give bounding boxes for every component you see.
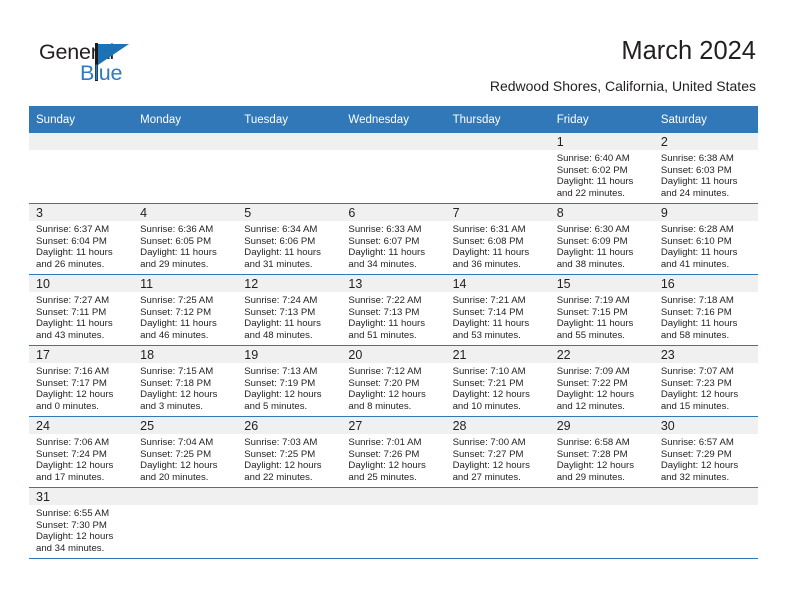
calendar-week-row: 3Sunrise: 6:37 AMSunset: 6:04 PMDaylight… — [29, 204, 758, 275]
day-cell-inner: 30Sunrise: 6:57 AMSunset: 7:29 PMDayligh… — [654, 417, 758, 487]
day-number: 27 — [341, 417, 445, 434]
calendar-empty-cell — [133, 133, 237, 204]
sunrise-time: Sunrise: 7:21 AM — [453, 295, 546, 307]
daylight-duration-line2: and 29 minutes. — [557, 472, 650, 484]
sunset-time: Sunset: 7:25 PM — [140, 449, 233, 461]
daylight-duration-line2: and 17 minutes. — [36, 472, 129, 484]
day-number — [341, 133, 445, 150]
daylight-duration-line1: Daylight: 11 hours — [348, 247, 441, 259]
daylight-duration-line2: and 31 minutes. — [244, 259, 337, 271]
daylight-duration-line1: Daylight: 11 hours — [140, 318, 233, 330]
calendar-day-cell[interactable]: 19Sunrise: 7:13 AMSunset: 7:19 PMDayligh… — [237, 346, 341, 417]
daylight-duration-line1: Daylight: 12 hours — [244, 389, 337, 401]
day-cell-inner: 28Sunrise: 7:00 AMSunset: 7:27 PMDayligh… — [446, 417, 550, 487]
day-number — [550, 488, 654, 505]
day-sun-details: Sunrise: 6:55 AMSunset: 7:30 PMDaylight:… — [29, 505, 133, 554]
calendar-day-cell[interactable]: 7Sunrise: 6:31 AMSunset: 6:08 PMDaylight… — [446, 204, 550, 275]
day-number: 9 — [654, 204, 758, 221]
day-cell-inner: 7Sunrise: 6:31 AMSunset: 6:08 PMDaylight… — [446, 204, 550, 274]
sunset-time: Sunset: 7:11 PM — [36, 307, 129, 319]
day-number: 29 — [550, 417, 654, 434]
day-sun-details: Sunrise: 6:31 AMSunset: 6:08 PMDaylight:… — [446, 221, 550, 270]
day-number: 25 — [133, 417, 237, 434]
day-sun-details: Sunrise: 7:04 AMSunset: 7:25 PMDaylight:… — [133, 434, 237, 483]
day-cell-inner — [654, 488, 758, 558]
day-cell-inner — [29, 133, 133, 203]
daylight-duration-line1: Daylight: 11 hours — [661, 176, 754, 188]
daylight-duration-line1: Daylight: 11 hours — [453, 247, 546, 259]
calendar-day-cell[interactable]: 18Sunrise: 7:15 AMSunset: 7:18 PMDayligh… — [133, 346, 237, 417]
day-number: 17 — [29, 346, 133, 363]
sunrise-time: Sunrise: 7:04 AM — [140, 437, 233, 449]
day-number — [341, 488, 445, 505]
day-cell-inner: 10Sunrise: 7:27 AMSunset: 7:11 PMDayligh… — [29, 275, 133, 345]
day-sun-details: Sunrise: 7:03 AMSunset: 7:25 PMDaylight:… — [237, 434, 341, 483]
sunrise-time: Sunrise: 6:38 AM — [661, 153, 754, 165]
sunrise-time: Sunrise: 7:10 AM — [453, 366, 546, 378]
sunrise-sunset-calendar-table: Sunday Monday Tuesday Wednesday Thursday… — [29, 106, 758, 559]
day-cell-inner: 22Sunrise: 7:09 AMSunset: 7:22 PMDayligh… — [550, 346, 654, 416]
sunrise-time: Sunrise: 7:06 AM — [36, 437, 129, 449]
weekday-header-saturday: Saturday — [654, 106, 758, 133]
calendar-empty-cell — [446, 133, 550, 204]
day-number: 16 — [654, 275, 758, 292]
calendar-week-row: 31Sunrise: 6:55 AMSunset: 7:30 PMDayligh… — [29, 488, 758, 559]
logo-text-blue: Blue — [80, 61, 122, 85]
day-sun-details: Sunrise: 7:12 AMSunset: 7:20 PMDaylight:… — [341, 363, 445, 412]
calendar-day-cell[interactable]: 21Sunrise: 7:10 AMSunset: 7:21 PMDayligh… — [446, 346, 550, 417]
sunset-time: Sunset: 7:24 PM — [36, 449, 129, 461]
sunset-time: Sunset: 6:10 PM — [661, 236, 754, 248]
day-cell-inner — [446, 133, 550, 203]
day-cell-inner: 14Sunrise: 7:21 AMSunset: 7:14 PMDayligh… — [446, 275, 550, 345]
sunset-time: Sunset: 7:28 PM — [557, 449, 650, 461]
sunset-time: Sunset: 7:26 PM — [348, 449, 441, 461]
calendar-week-row: 24Sunrise: 7:06 AMSunset: 7:24 PMDayligh… — [29, 417, 758, 488]
sunset-time: Sunset: 7:20 PM — [348, 378, 441, 390]
calendar-day-cell[interactable]: 30Sunrise: 6:57 AMSunset: 7:29 PMDayligh… — [654, 417, 758, 488]
day-number: 10 — [29, 275, 133, 292]
weekday-header-wednesday: Wednesday — [341, 106, 445, 133]
day-number — [654, 488, 758, 505]
day-sun-details: Sunrise: 7:24 AMSunset: 7:13 PMDaylight:… — [237, 292, 341, 341]
sunset-time: Sunset: 6:07 PM — [348, 236, 441, 248]
calendar-empty-cell — [446, 488, 550, 559]
calendar-day-cell[interactable]: 12Sunrise: 7:24 AMSunset: 7:13 PMDayligh… — [237, 275, 341, 346]
calendar-empty-cell — [341, 488, 445, 559]
daylight-duration-line2: and 36 minutes. — [453, 259, 546, 271]
daylight-duration-line1: Daylight: 12 hours — [36, 389, 129, 401]
weekday-header-friday: Friday — [550, 106, 654, 133]
daylight-duration-line2: and 12 minutes. — [557, 401, 650, 413]
calendar-empty-cell — [29, 133, 133, 204]
sunset-time: Sunset: 7:15 PM — [557, 307, 650, 319]
calendar-week-row: 10Sunrise: 7:27 AMSunset: 7:11 PMDayligh… — [29, 275, 758, 346]
day-number: 4 — [133, 204, 237, 221]
daylight-duration-line2: and 8 minutes. — [348, 401, 441, 413]
daylight-duration-line1: Daylight: 11 hours — [661, 318, 754, 330]
day-number: 26 — [237, 417, 341, 434]
sunrise-time: Sunrise: 7:07 AM — [661, 366, 754, 378]
calendar-day-cell[interactable]: 25Sunrise: 7:04 AMSunset: 7:25 PMDayligh… — [133, 417, 237, 488]
sunset-time: Sunset: 7:27 PM — [453, 449, 546, 461]
daylight-duration-line1: Daylight: 12 hours — [453, 460, 546, 472]
calendar-header-row: Sunday Monday Tuesday Wednesday Thursday… — [29, 106, 758, 133]
day-sun-details: Sunrise: 6:57 AMSunset: 7:29 PMDaylight:… — [654, 434, 758, 483]
daylight-duration-line2: and 32 minutes. — [661, 472, 754, 484]
daylight-duration-line2: and 38 minutes. — [557, 259, 650, 271]
day-number — [446, 133, 550, 150]
day-sun-details: Sunrise: 7:25 AMSunset: 7:12 PMDaylight:… — [133, 292, 237, 341]
daylight-duration-line2: and 15 minutes. — [661, 401, 754, 413]
daylight-duration-line1: Daylight: 12 hours — [348, 460, 441, 472]
day-sun-details: Sunrise: 7:13 AMSunset: 7:19 PMDaylight:… — [237, 363, 341, 412]
calendar-day-cell[interactable]: 2Sunrise: 6:38 AMSunset: 6:03 PMDaylight… — [654, 133, 758, 204]
day-sun-details: Sunrise: 7:10 AMSunset: 7:21 PMDaylight:… — [446, 363, 550, 412]
daylight-duration-line1: Daylight: 12 hours — [244, 460, 337, 472]
day-sun-details: Sunrise: 7:16 AMSunset: 7:17 PMDaylight:… — [29, 363, 133, 412]
day-number: 6 — [341, 204, 445, 221]
daylight-duration-line2: and 0 minutes. — [36, 401, 129, 413]
day-cell-inner: 2Sunrise: 6:38 AMSunset: 6:03 PMDaylight… — [654, 133, 758, 203]
day-number: 15 — [550, 275, 654, 292]
calendar-day-cell[interactable]: 8Sunrise: 6:30 AMSunset: 6:09 PMDaylight… — [550, 204, 654, 275]
daylight-duration-line2: and 43 minutes. — [36, 330, 129, 342]
day-number: 7 — [446, 204, 550, 221]
day-number — [237, 488, 341, 505]
daylight-duration-line1: Daylight: 12 hours — [140, 389, 233, 401]
calendar-body: 1Sunrise: 6:40 AMSunset: 6:02 PMDaylight… — [29, 133, 758, 559]
day-cell-inner: 15Sunrise: 7:19 AMSunset: 7:15 PMDayligh… — [550, 275, 654, 345]
day-sun-details: Sunrise: 6:30 AMSunset: 6:09 PMDaylight:… — [550, 221, 654, 270]
daylight-duration-line2: and 34 minutes. — [36, 543, 129, 555]
sunrise-time: Sunrise: 7:27 AM — [36, 295, 129, 307]
calendar-day-cell[interactable]: 6Sunrise: 6:33 AMSunset: 6:07 PMDaylight… — [341, 204, 445, 275]
general-blue-logo: General Blue — [39, 40, 169, 88]
sunset-time: Sunset: 7:13 PM — [348, 307, 441, 319]
daylight-duration-line2: and 41 minutes. — [661, 259, 754, 271]
daylight-duration-line2: and 34 minutes. — [348, 259, 441, 271]
calendar-week-row: 17Sunrise: 7:16 AMSunset: 7:17 PMDayligh… — [29, 346, 758, 417]
daylight-duration-line1: Daylight: 11 hours — [557, 176, 650, 188]
calendar-empty-cell — [237, 133, 341, 204]
sunset-time: Sunset: 7:14 PM — [453, 307, 546, 319]
sunset-time: Sunset: 7:23 PM — [661, 378, 754, 390]
day-cell-inner: 23Sunrise: 7:07 AMSunset: 7:23 PMDayligh… — [654, 346, 758, 416]
day-sun-details: Sunrise: 6:40 AMSunset: 6:02 PMDaylight:… — [550, 150, 654, 199]
calendar-day-cell[interactable]: 11Sunrise: 7:25 AMSunset: 7:12 PMDayligh… — [133, 275, 237, 346]
day-number: 28 — [446, 417, 550, 434]
sunset-time: Sunset: 6:08 PM — [453, 236, 546, 248]
weekday-header-sunday: Sunday — [29, 106, 133, 133]
day-number: 31 — [29, 488, 133, 505]
day-cell-inner: 13Sunrise: 7:22 AMSunset: 7:13 PMDayligh… — [341, 275, 445, 345]
daylight-duration-line1: Daylight: 11 hours — [557, 318, 650, 330]
day-sun-details: Sunrise: 7:07 AMSunset: 7:23 PMDaylight:… — [654, 363, 758, 412]
sunset-time: Sunset: 7:30 PM — [36, 520, 129, 532]
day-sun-details: Sunrise: 7:00 AMSunset: 7:27 PMDaylight:… — [446, 434, 550, 483]
sunrise-time: Sunrise: 7:19 AM — [557, 295, 650, 307]
sunset-time: Sunset: 7:13 PM — [244, 307, 337, 319]
day-cell-inner: 29Sunrise: 6:58 AMSunset: 7:28 PMDayligh… — [550, 417, 654, 487]
day-number — [237, 133, 341, 150]
sunrise-time: Sunrise: 6:36 AM — [140, 224, 233, 236]
calendar-day-cell[interactable]: 22Sunrise: 7:09 AMSunset: 7:22 PMDayligh… — [550, 346, 654, 417]
daylight-duration-line2: and 5 minutes. — [244, 401, 337, 413]
day-cell-inner: 6Sunrise: 6:33 AMSunset: 6:07 PMDaylight… — [341, 204, 445, 274]
daylight-duration-line2: and 25 minutes. — [348, 472, 441, 484]
day-cell-inner: 1Sunrise: 6:40 AMSunset: 6:02 PMDaylight… — [550, 133, 654, 203]
sunset-time: Sunset: 7:21 PM — [453, 378, 546, 390]
daylight-duration-line1: Daylight: 11 hours — [140, 247, 233, 259]
sunset-time: Sunset: 7:29 PM — [661, 449, 754, 461]
sunrise-time: Sunrise: 6:57 AM — [661, 437, 754, 449]
sunrise-time: Sunrise: 6:58 AM — [557, 437, 650, 449]
day-number: 3 — [29, 204, 133, 221]
calendar-day-cell[interactable]: 20Sunrise: 7:12 AMSunset: 7:20 PMDayligh… — [341, 346, 445, 417]
calendar-day-cell[interactable]: 15Sunrise: 7:19 AMSunset: 7:15 PMDayligh… — [550, 275, 654, 346]
day-number: 22 — [550, 346, 654, 363]
sunrise-time: Sunrise: 7:15 AM — [140, 366, 233, 378]
calendar-day-cell[interactable]: 26Sunrise: 7:03 AMSunset: 7:25 PMDayligh… — [237, 417, 341, 488]
day-sun-details: Sunrise: 6:34 AMSunset: 6:06 PMDaylight:… — [237, 221, 341, 270]
day-number: 21 — [446, 346, 550, 363]
daylight-duration-line1: Daylight: 11 hours — [36, 318, 129, 330]
sunset-time: Sunset: 7:16 PM — [661, 307, 754, 319]
day-sun-details: Sunrise: 6:58 AMSunset: 7:28 PMDaylight:… — [550, 434, 654, 483]
sunrise-time: Sunrise: 7:25 AM — [140, 295, 233, 307]
day-cell-inner — [446, 488, 550, 558]
daylight-duration-line1: Daylight: 11 hours — [557, 247, 650, 259]
sunrise-time: Sunrise: 6:28 AM — [661, 224, 754, 236]
sunset-time: Sunset: 6:03 PM — [661, 165, 754, 177]
day-cell-inner: 16Sunrise: 7:18 AMSunset: 7:16 PMDayligh… — [654, 275, 758, 345]
day-sun-details: Sunrise: 6:28 AMSunset: 6:10 PMDaylight:… — [654, 221, 758, 270]
sunset-time: Sunset: 6:09 PM — [557, 236, 650, 248]
daylight-duration-line1: Daylight: 12 hours — [36, 531, 129, 543]
calendar-day-cell[interactable]: 1Sunrise: 6:40 AMSunset: 6:02 PMDaylight… — [550, 133, 654, 204]
sunset-time: Sunset: 7:17 PM — [36, 378, 129, 390]
daylight-duration-line1: Daylight: 11 hours — [36, 247, 129, 259]
day-sun-details: Sunrise: 7:09 AMSunset: 7:22 PMDaylight:… — [550, 363, 654, 412]
day-sun-details: Sunrise: 7:18 AMSunset: 7:16 PMDaylight:… — [654, 292, 758, 341]
day-number: 30 — [654, 417, 758, 434]
calendar-empty-cell — [550, 488, 654, 559]
day-cell-inner: 9Sunrise: 6:28 AMSunset: 6:10 PMDaylight… — [654, 204, 758, 274]
day-cell-inner: 17Sunrise: 7:16 AMSunset: 7:17 PMDayligh… — [29, 346, 133, 416]
day-sun-details: Sunrise: 7:06 AMSunset: 7:24 PMDaylight:… — [29, 434, 133, 483]
day-cell-inner: 11Sunrise: 7:25 AMSunset: 7:12 PMDayligh… — [133, 275, 237, 345]
sunset-time: Sunset: 7:25 PM — [244, 449, 337, 461]
daylight-duration-line2: and 51 minutes. — [348, 330, 441, 342]
day-number — [29, 133, 133, 150]
daylight-duration-line1: Daylight: 11 hours — [244, 318, 337, 330]
sunset-time: Sunset: 6:02 PM — [557, 165, 650, 177]
daylight-duration-line2: and 20 minutes. — [140, 472, 233, 484]
calendar-day-cell[interactable]: 24Sunrise: 7:06 AMSunset: 7:24 PMDayligh… — [29, 417, 133, 488]
calendar-empty-cell — [133, 488, 237, 559]
sunrise-time: Sunrise: 6:37 AM — [36, 224, 129, 236]
day-cell-inner: 4Sunrise: 6:36 AMSunset: 6:05 PMDaylight… — [133, 204, 237, 274]
calendar-day-cell[interactable]: 9Sunrise: 6:28 AMSunset: 6:10 PMDaylight… — [654, 204, 758, 275]
daylight-duration-line1: Daylight: 12 hours — [140, 460, 233, 472]
sunrise-time: Sunrise: 7:24 AM — [244, 295, 337, 307]
calendar-empty-cell — [654, 488, 758, 559]
daylight-duration-line2: and 29 minutes. — [140, 259, 233, 271]
day-number: 1 — [550, 133, 654, 150]
daylight-duration-line1: Daylight: 12 hours — [661, 389, 754, 401]
day-sun-details: Sunrise: 6:37 AMSunset: 6:04 PMDaylight:… — [29, 221, 133, 270]
day-cell-inner — [237, 488, 341, 558]
sunrise-time: Sunrise: 7:03 AM — [244, 437, 337, 449]
day-cell-inner: 26Sunrise: 7:03 AMSunset: 7:25 PMDayligh… — [237, 417, 341, 487]
sunrise-time: Sunrise: 6:31 AM — [453, 224, 546, 236]
daylight-duration-line2: and 53 minutes. — [453, 330, 546, 342]
daylight-duration-line1: Daylight: 11 hours — [244, 247, 337, 259]
day-sun-details: Sunrise: 6:38 AMSunset: 6:03 PMDaylight:… — [654, 150, 758, 199]
page-header: General Blue March 2024 Redwood Shores, … — [0, 0, 792, 100]
day-cell-inner — [133, 133, 237, 203]
daylight-duration-line2: and 58 minutes. — [661, 330, 754, 342]
sunset-time: Sunset: 7:18 PM — [140, 378, 233, 390]
sunrise-time: Sunrise: 7:13 AM — [244, 366, 337, 378]
day-sun-details: Sunrise: 7:01 AMSunset: 7:26 PMDaylight:… — [341, 434, 445, 483]
calendar-day-cell[interactable]: 16Sunrise: 7:18 AMSunset: 7:16 PMDayligh… — [654, 275, 758, 346]
day-cell-inner: 5Sunrise: 6:34 AMSunset: 6:06 PMDaylight… — [237, 204, 341, 274]
day-number — [446, 488, 550, 505]
day-cell-inner — [341, 133, 445, 203]
sunset-time: Sunset: 7:22 PM — [557, 378, 650, 390]
day-sun-details: Sunrise: 7:22 AMSunset: 7:13 PMDaylight:… — [341, 292, 445, 341]
day-cell-inner: 25Sunrise: 7:04 AMSunset: 7:25 PMDayligh… — [133, 417, 237, 487]
day-cell-inner — [341, 488, 445, 558]
day-number: 23 — [654, 346, 758, 363]
calendar-day-cell[interactable]: 29Sunrise: 6:58 AMSunset: 7:28 PMDayligh… — [550, 417, 654, 488]
daylight-duration-line2: and 27 minutes. — [453, 472, 546, 484]
page-title: March 2024 — [621, 37, 756, 66]
calendar-day-cell[interactable]: 4Sunrise: 6:36 AMSunset: 6:05 PMDaylight… — [133, 204, 237, 275]
calendar-day-cell[interactable]: 17Sunrise: 7:16 AMSunset: 7:17 PMDayligh… — [29, 346, 133, 417]
daylight-duration-line1: Daylight: 12 hours — [557, 460, 650, 472]
day-number — [133, 488, 237, 505]
day-cell-inner: 20Sunrise: 7:12 AMSunset: 7:20 PMDayligh… — [341, 346, 445, 416]
daylight-duration-line1: Daylight: 12 hours — [36, 460, 129, 472]
page-subtitle: Redwood Shores, California, United State… — [490, 78, 756, 94]
day-cell-inner — [133, 488, 237, 558]
daylight-duration-line2: and 3 minutes. — [140, 401, 233, 413]
calendar-day-cell[interactable]: 3Sunrise: 6:37 AMSunset: 6:04 PMDaylight… — [29, 204, 133, 275]
weekday-header-monday: Monday — [133, 106, 237, 133]
day-number: 11 — [133, 275, 237, 292]
day-sun-details: Sunrise: 7:19 AMSunset: 7:15 PMDaylight:… — [550, 292, 654, 341]
day-number: 14 — [446, 275, 550, 292]
sunrise-time: Sunrise: 6:34 AM — [244, 224, 337, 236]
daylight-duration-line2: and 55 minutes. — [557, 330, 650, 342]
day-number: 20 — [341, 346, 445, 363]
sunrise-time: Sunrise: 6:40 AM — [557, 153, 650, 165]
calendar-week-row: 1Sunrise: 6:40 AMSunset: 6:02 PMDaylight… — [29, 133, 758, 204]
sunrise-time: Sunrise: 7:16 AM — [36, 366, 129, 378]
day-number: 19 — [237, 346, 341, 363]
day-number: 8 — [550, 204, 654, 221]
sunrise-time: Sunrise: 7:12 AM — [348, 366, 441, 378]
day-sun-details: Sunrise: 6:36 AMSunset: 6:05 PMDaylight:… — [133, 221, 237, 270]
weekday-header-tuesday: Tuesday — [237, 106, 341, 133]
daylight-duration-line2: and 24 minutes. — [661, 188, 754, 200]
day-sun-details: Sunrise: 6:33 AMSunset: 6:07 PMDaylight:… — [341, 221, 445, 270]
day-cell-inner: 24Sunrise: 7:06 AMSunset: 7:24 PMDayligh… — [29, 417, 133, 487]
day-number: 18 — [133, 346, 237, 363]
weekday-header-thursday: Thursday — [446, 106, 550, 133]
day-sun-details: Sunrise: 7:21 AMSunset: 7:14 PMDaylight:… — [446, 292, 550, 341]
weekday-header-row: Sunday Monday Tuesday Wednesday Thursday… — [29, 106, 758, 133]
sunset-time: Sunset: 7:12 PM — [140, 307, 233, 319]
sunrise-time: Sunrise: 7:01 AM — [348, 437, 441, 449]
sunset-time: Sunset: 7:19 PM — [244, 378, 337, 390]
sunrise-time: Sunrise: 7:00 AM — [453, 437, 546, 449]
sunrise-time: Sunrise: 7:18 AM — [661, 295, 754, 307]
day-cell-inner: 18Sunrise: 7:15 AMSunset: 7:18 PMDayligh… — [133, 346, 237, 416]
daylight-duration-line2: and 10 minutes. — [453, 401, 546, 413]
daylight-duration-line1: Daylight: 12 hours — [661, 460, 754, 472]
sunset-time: Sunset: 6:06 PM — [244, 236, 337, 248]
day-cell-inner: 27Sunrise: 7:01 AMSunset: 7:26 PMDayligh… — [341, 417, 445, 487]
daylight-duration-line2: and 22 minutes. — [557, 188, 650, 200]
calendar-day-cell[interactable]: 31Sunrise: 6:55 AMSunset: 7:30 PMDayligh… — [29, 488, 133, 559]
calendar-day-cell[interactable]: 28Sunrise: 7:00 AMSunset: 7:27 PMDayligh… — [446, 417, 550, 488]
day-cell-inner: 21Sunrise: 7:10 AMSunset: 7:21 PMDayligh… — [446, 346, 550, 416]
sunset-time: Sunset: 6:04 PM — [36, 236, 129, 248]
sunrise-time: Sunrise: 6:55 AM — [36, 508, 129, 520]
day-cell-inner — [550, 488, 654, 558]
daylight-duration-line1: Daylight: 11 hours — [661, 247, 754, 259]
calendar-day-cell[interactable]: 14Sunrise: 7:21 AMSunset: 7:14 PMDayligh… — [446, 275, 550, 346]
daylight-duration-line2: and 46 minutes. — [140, 330, 233, 342]
day-number: 13 — [341, 275, 445, 292]
day-number — [133, 133, 237, 150]
day-number: 5 — [237, 204, 341, 221]
calendar-day-cell[interactable]: 13Sunrise: 7:22 AMSunset: 7:13 PMDayligh… — [341, 275, 445, 346]
calendar-day-cell[interactable]: 10Sunrise: 7:27 AMSunset: 7:11 PMDayligh… — [29, 275, 133, 346]
daylight-duration-line1: Daylight: 12 hours — [557, 389, 650, 401]
daylight-duration-line1: Daylight: 11 hours — [453, 318, 546, 330]
day-cell-inner: 12Sunrise: 7:24 AMSunset: 7:13 PMDayligh… — [237, 275, 341, 345]
day-cell-inner: 3Sunrise: 6:37 AMSunset: 6:04 PMDaylight… — [29, 204, 133, 274]
daylight-duration-line1: Daylight: 11 hours — [348, 318, 441, 330]
calendar-day-cell[interactable]: 5Sunrise: 6:34 AMSunset: 6:06 PMDaylight… — [237, 204, 341, 275]
calendar-day-cell[interactable]: 23Sunrise: 7:07 AMSunset: 7:23 PMDayligh… — [654, 346, 758, 417]
sunrise-time: Sunrise: 7:22 AM — [348, 295, 441, 307]
day-number: 24 — [29, 417, 133, 434]
sunrise-time: Sunrise: 6:33 AM — [348, 224, 441, 236]
calendar-day-cell[interactable]: 27Sunrise: 7:01 AMSunset: 7:26 PMDayligh… — [341, 417, 445, 488]
calendar-page: General Blue March 2024 Redwood Shores, … — [0, 0, 792, 612]
day-number: 12 — [237, 275, 341, 292]
sunrise-time: Sunrise: 6:30 AM — [557, 224, 650, 236]
daylight-duration-line2: and 48 minutes. — [244, 330, 337, 342]
day-cell-inner — [237, 133, 341, 203]
day-cell-inner: 19Sunrise: 7:13 AMSunset: 7:19 PMDayligh… — [237, 346, 341, 416]
daylight-duration-line1: Daylight: 12 hours — [348, 389, 441, 401]
sunrise-time: Sunrise: 7:09 AM — [557, 366, 650, 378]
day-sun-details: Sunrise: 7:15 AMSunset: 7:18 PMDaylight:… — [133, 363, 237, 412]
calendar-empty-cell — [341, 133, 445, 204]
day-sun-details: Sunrise: 7:27 AMSunset: 7:11 PMDaylight:… — [29, 292, 133, 341]
daylight-duration-line1: Daylight: 12 hours — [453, 389, 546, 401]
sunset-time: Sunset: 6:05 PM — [140, 236, 233, 248]
day-number: 2 — [654, 133, 758, 150]
calendar-empty-cell — [237, 488, 341, 559]
